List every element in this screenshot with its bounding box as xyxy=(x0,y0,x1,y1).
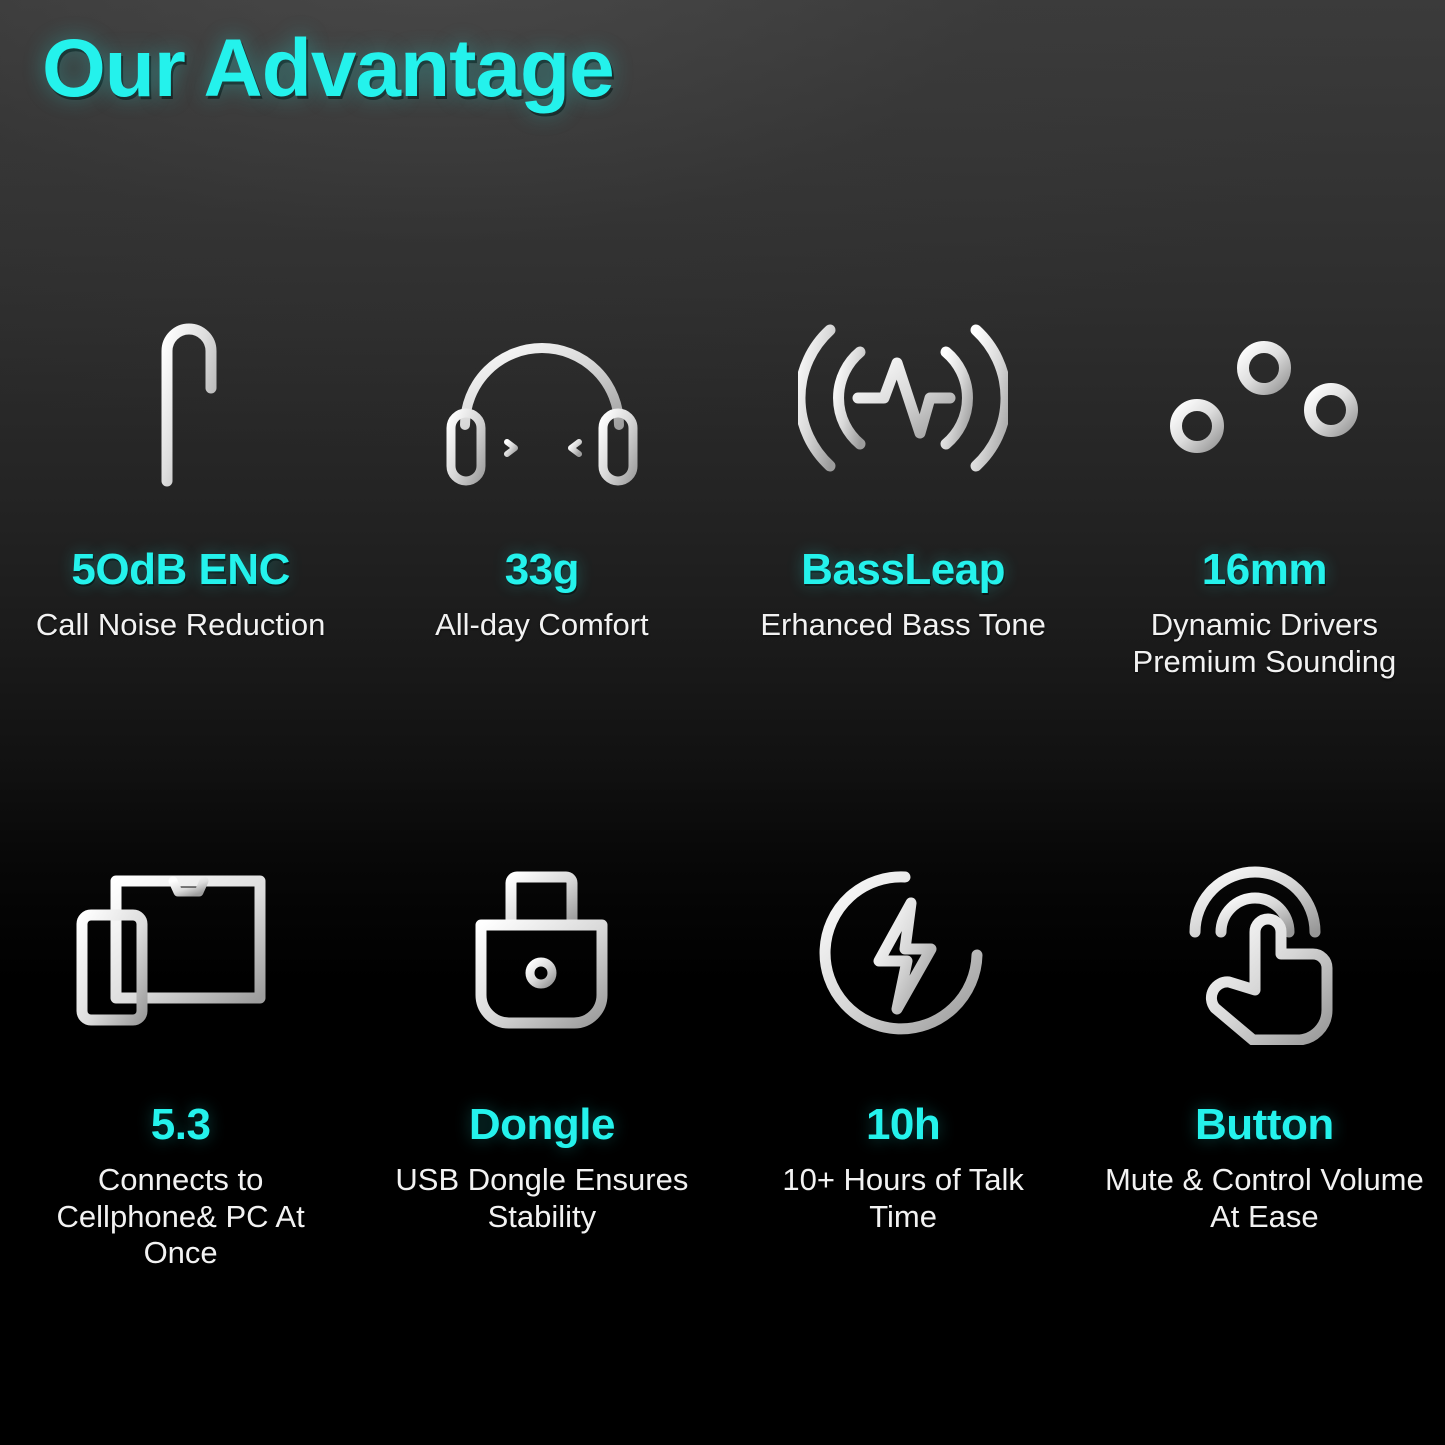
feature-headline: 5.3 xyxy=(151,1102,211,1148)
feature-subline: Erhanced Bass Tone xyxy=(760,607,1046,644)
feature-headline: 5OdB ENC xyxy=(71,547,289,593)
feature-card-dongle: Dongle USB Dongle EnsuresStability xyxy=(361,845,722,1272)
feature-card-bass: BassLeap Erhanced Bass Tone xyxy=(723,290,1084,680)
page-title: Our Advantage xyxy=(42,28,614,110)
feature-subline: 10+ Hours of TalkTime xyxy=(782,1162,1024,1235)
feature-headline: Dongle xyxy=(469,1102,615,1148)
usb-dongle-icon xyxy=(459,845,624,1060)
feature-subline: Dynamic DriversPremium Sounding xyxy=(1133,607,1397,680)
laptop-phone-devices-icon xyxy=(68,845,293,1060)
feature-headline: 16mm xyxy=(1202,547,1327,593)
feature-subline: Connects toCellphone& PC At Once xyxy=(16,1162,346,1272)
feature-headline: 10h xyxy=(866,1102,940,1148)
feature-card-bluetooth: 5.3 Connects toCellphone& PC At Once xyxy=(0,845,361,1272)
equalizer-sliders-icon xyxy=(1169,290,1359,505)
feature-subline: Mute & Control VolumeAt Ease xyxy=(1105,1162,1424,1235)
touch-hand-tap-icon xyxy=(1169,845,1359,1060)
audio-waveform-icon xyxy=(71,290,291,505)
feature-card-button: Button Mute & Control VolumeAt Ease xyxy=(1084,845,1445,1272)
feature-subline: All-day Comfort xyxy=(435,607,649,644)
feature-headline: BassLeap xyxy=(801,547,1005,593)
feature-row-1: 5OdB ENC Call Noise Reduction xyxy=(0,290,1445,680)
feature-card-talktime: 10h 10+ Hours of TalkTime xyxy=(723,845,1084,1272)
advantage-infographic: Our Advantage xyxy=(0,0,1445,1445)
headphone-comfort-icon xyxy=(437,290,647,505)
feature-row-2: 5.3 Connects toCellphone& PC At Once xyxy=(0,845,1445,1272)
feature-subline: Call Noise Reduction xyxy=(36,607,325,644)
feature-headline: 33g xyxy=(505,547,579,593)
sound-wave-pulse-icon xyxy=(798,290,1008,505)
feature-card-driver: 16mm Dynamic DriversPremium Sounding xyxy=(1084,290,1445,680)
feature-subline: USB Dongle EnsuresStability xyxy=(395,1162,688,1235)
feature-card-enc: 5OdB ENC Call Noise Reduction xyxy=(0,290,361,680)
feature-headline: Button xyxy=(1195,1102,1334,1148)
feature-card-weight: 33g All-day Comfort xyxy=(361,290,722,680)
battery-lightning-icon xyxy=(813,845,993,1060)
